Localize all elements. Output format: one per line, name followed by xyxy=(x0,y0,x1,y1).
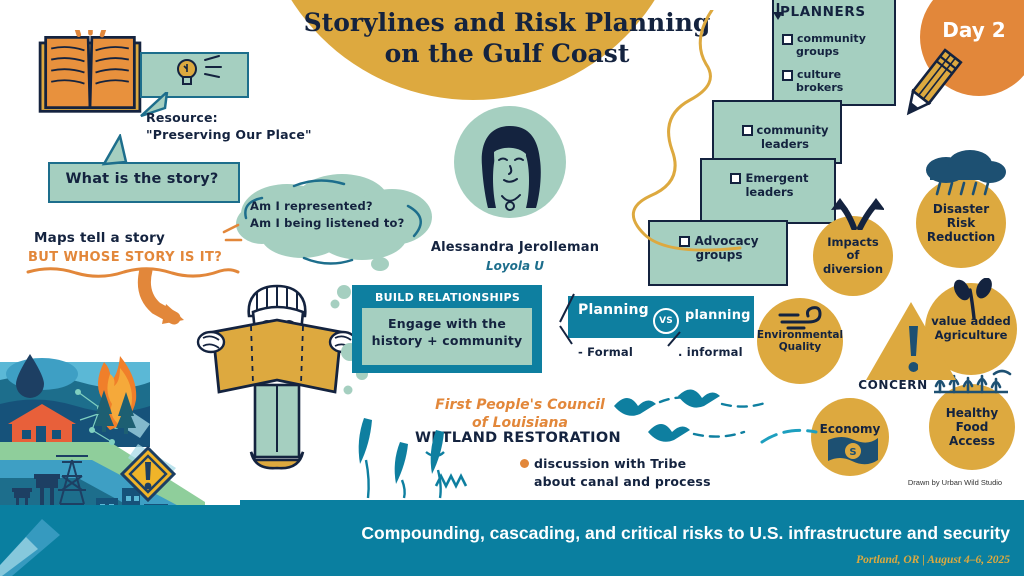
footer-title: Compounding, cascading, and critical ris… xyxy=(270,523,1010,544)
marsh-grass-icon xyxy=(340,400,540,500)
down-arrow-icon xyxy=(770,2,786,22)
graphic-recording-canvas: Storylines and Risk Planning on the Gulf… xyxy=(0,0,1024,576)
money-flag-icon: S xyxy=(826,434,880,468)
planning-informal-word: planning xyxy=(685,308,751,323)
cloud-questions-text: Am I represented? Am I being listened to… xyxy=(250,198,425,233)
discussion-line-2: about canal and process xyxy=(534,473,764,491)
exclamation-mark-icon xyxy=(905,326,918,374)
what-is-the-story-text: What is the story? xyxy=(52,171,232,187)
step-item-culture-brokers: culture brokers xyxy=(782,68,887,94)
speaker-portrait xyxy=(452,104,568,220)
credit-text: Drawn by Urban Wild Studio xyxy=(895,478,1015,487)
connector-line-icon xyxy=(554,292,578,352)
lightbulb-icon xyxy=(175,58,199,88)
concern-label: CONCERN xyxy=(848,378,938,392)
speaker-name: Alessandra Jerolleman xyxy=(400,240,630,255)
wind-swirl-icon xyxy=(778,300,830,332)
build-relationships-heading: BUILD RELATIONSHIPS xyxy=(360,291,535,304)
resource-text: Resource: "Preserving Our Place" xyxy=(146,110,346,144)
build-relationships-body: Engage with the history + community xyxy=(364,316,530,350)
footer-decoration-icon xyxy=(0,505,120,576)
maps-tell-a-story-text: Maps tell a story xyxy=(34,230,249,246)
day-badge-label: Day 2 xyxy=(934,18,1014,42)
checkbox-icon xyxy=(782,34,793,45)
checkbox-icon xyxy=(782,70,793,81)
planning-formal-word: Planning xyxy=(578,302,649,318)
resource-label: Resource: xyxy=(146,110,346,127)
open-book-icon xyxy=(30,30,150,115)
step-item-community-groups: community groups xyxy=(782,32,887,58)
cloud-question-2: Am I being listened to? xyxy=(250,215,425,232)
rain-cloud-icon xyxy=(920,150,1006,198)
circle-healthy-food-access: HealthyFoodAccess xyxy=(929,384,1015,470)
whose-story-text: BUT WHOSE STORY IS IT? xyxy=(28,250,253,265)
flying-birds-icon xyxy=(604,388,784,458)
speaker-affiliation: Loyola U xyxy=(400,259,630,273)
resource-title: "Preserving Our Place" xyxy=(146,127,346,144)
svg-text:S: S xyxy=(849,447,856,458)
build-body-line-2: history + community xyxy=(364,333,530,350)
two-arrows-icon xyxy=(828,196,884,230)
bubble-tail-icon-2 xyxy=(98,134,130,166)
build-body-line-1: Engage with the xyxy=(364,316,530,333)
footer-subtitle: Portland, OR | August 4–6, 2025 xyxy=(270,554,1010,566)
planners-header: PLANNERS xyxy=(780,4,866,20)
sprout-icon xyxy=(950,278,998,320)
pencil-icon xyxy=(895,42,965,127)
gold-squiggle-line xyxy=(620,10,750,300)
discussion-text: discussion with Tribe about canal and pr… xyxy=(534,455,764,490)
decorative-curve-icon xyxy=(760,420,830,450)
formal-label: - Formal xyxy=(578,345,633,359)
informal-label: . informal xyxy=(678,345,743,359)
emphasis-marks-icon xyxy=(222,222,244,248)
orange-arrow-icon xyxy=(130,268,194,326)
cloud-question-1: Am I represented? xyxy=(250,198,425,215)
connector-tick-icon xyxy=(664,330,684,350)
idea-rays-icon xyxy=(203,54,225,78)
